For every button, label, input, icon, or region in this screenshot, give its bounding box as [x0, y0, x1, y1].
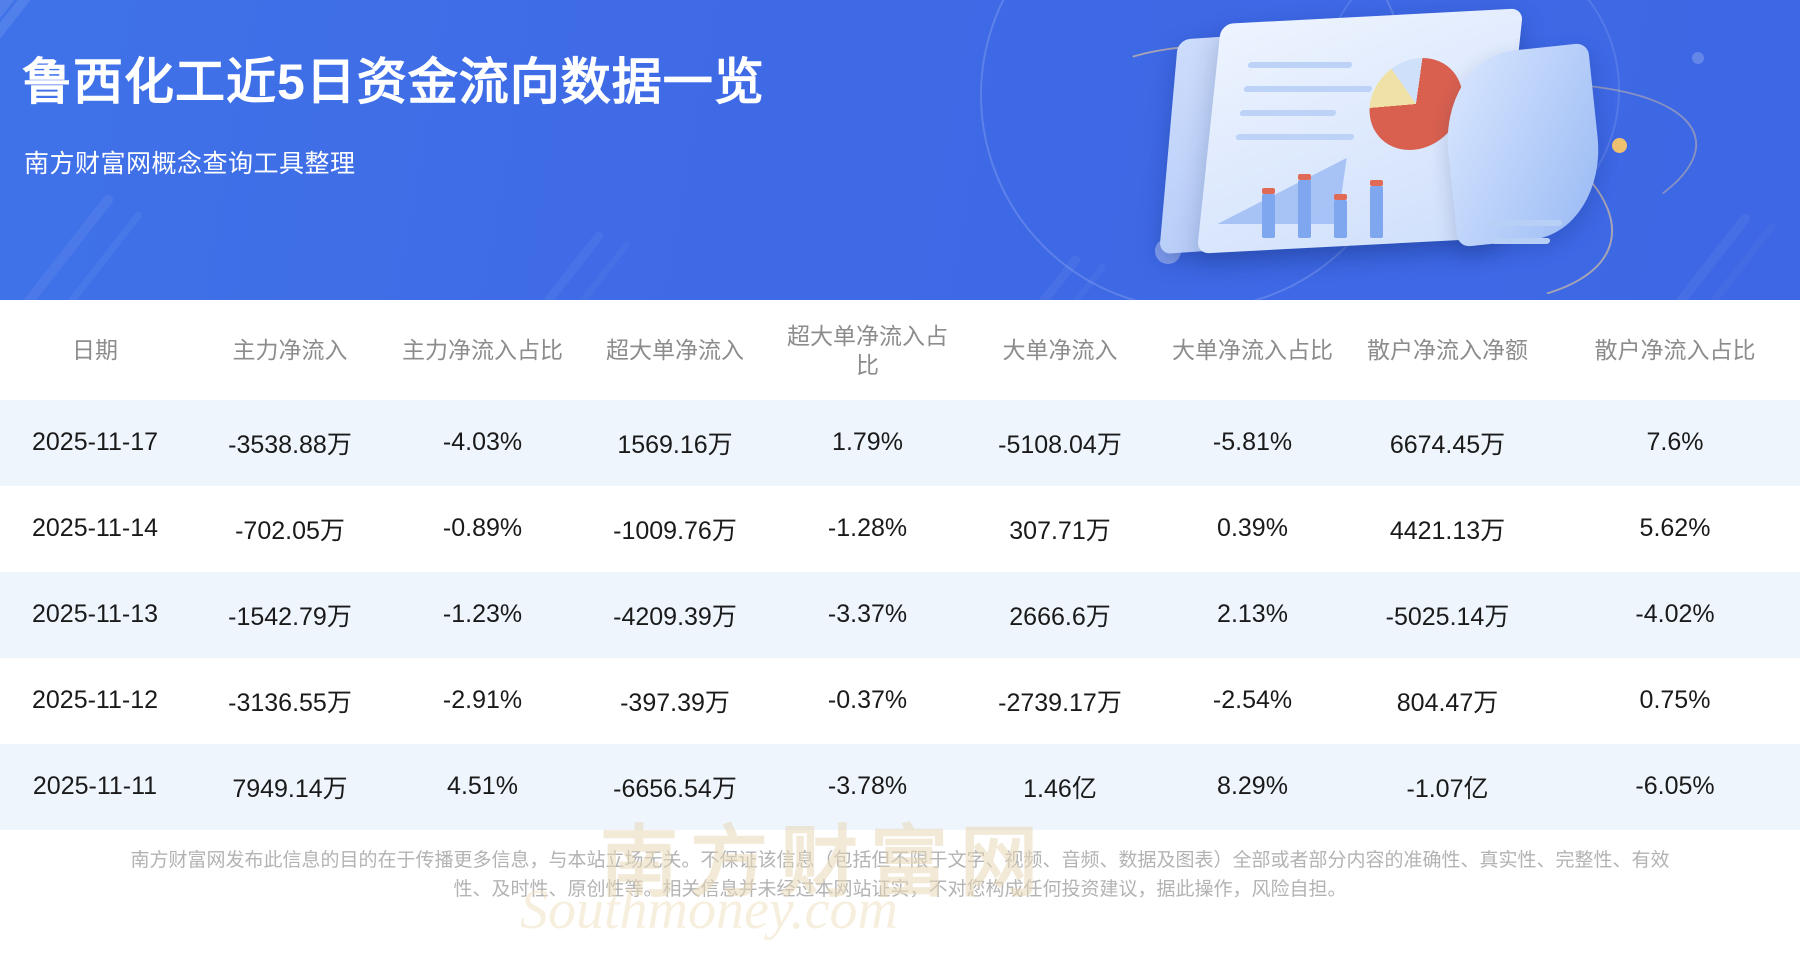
cell-main-net: -702.05万 [190, 486, 390, 572]
cell-main-net: 7949.14万 [190, 744, 390, 830]
cell-retail-pct: 0.75% [1550, 658, 1800, 744]
cell-super-net: -397.39万 [575, 658, 775, 744]
cell-large-net: 307.71万 [960, 486, 1160, 572]
table-row: 2025-11-11 7949.14万 4.51% -6656.54万 -3.7… [0, 744, 1800, 830]
cell-super-net: -6656.54万 [575, 744, 775, 830]
cell-main-net: -3136.55万 [190, 658, 390, 744]
cell-main-pct: -4.03% [390, 400, 575, 486]
cell-large-pct: 2.13% [1160, 572, 1345, 658]
cell-super-pct: -3.78% [775, 744, 960, 830]
cell-date: 2025-11-11 [0, 744, 190, 830]
header-retail-pct: 散户净流入占比 [1550, 300, 1800, 400]
table-row: 2025-11-14 -702.05万 -0.89% -1009.76万 -1.… [0, 486, 1800, 572]
table-row: 2025-11-13 -1542.79万 -1.23% -4209.39万 -3… [0, 572, 1800, 658]
cell-retail-net: 4421.13万 [1345, 486, 1550, 572]
cell-super-net: -4209.39万 [575, 572, 775, 658]
table-row: 2025-11-17 -3538.88万 -4.03% 1569.16万 1.7… [0, 400, 1800, 486]
cell-large-pct: -5.81% [1160, 400, 1345, 486]
cell-super-pct: -0.37% [775, 658, 960, 744]
disclaimer-line-2: 性、及时性、原创性等。相关信息并未经过本网站证实，不对您构成任何投资建议，据此操… [18, 875, 1782, 904]
cell-super-net: 1569.16万 [575, 400, 775, 486]
cell-main-pct: 4.51% [390, 744, 575, 830]
cell-super-pct: 1.79% [775, 400, 960, 486]
table-row: 2025-11-12 -3136.55万 -2.91% -397.39万 -0.… [0, 658, 1800, 744]
cell-large-pct: 8.29% [1160, 744, 1345, 830]
cell-retail-net: -1.07亿 [1345, 744, 1550, 830]
cell-large-net: 1.46亿 [960, 744, 1160, 830]
disclaimer: 南方财富网发布此信息的目的在于传播更多信息，与本站立场无关。不保证该信息（包括但… [0, 830, 1800, 915]
cell-date: 2025-11-14 [0, 486, 190, 572]
header-date: 日期 [0, 300, 190, 400]
header-super-pct: 超大单净流入占比 [775, 300, 960, 400]
cell-retail-net: -5025.14万 [1345, 572, 1550, 658]
cell-main-pct: -1.23% [390, 572, 575, 658]
fund-flow-table-wrapper: 日期 主力净流入 主力净流入占比 超大单净流入 超大单净流入占比 大单净流入 大… [0, 300, 1800, 830]
page-subtitle: 南方财富网概念查询工具整理 [24, 144, 356, 180]
cell-super-pct: -3.37% [775, 572, 960, 658]
cell-large-net: -5108.04万 [960, 400, 1160, 486]
cell-super-net: -1009.76万 [575, 486, 775, 572]
cell-large-net: 2666.6万 [960, 572, 1160, 658]
table-area: 南方财富网 Southmoney.com 日期 主力净流入 主力净流入占比 超大… [0, 300, 1800, 830]
cell-large-pct: 0.39% [1160, 486, 1345, 572]
disclaimer-line-1: 南方财富网发布此信息的目的在于传播更多信息，与本站立场无关。不保证该信息（包括但… [18, 846, 1782, 875]
cell-super-pct: -1.28% [775, 486, 960, 572]
header-retail-net: 散户净流入净额 [1345, 300, 1550, 400]
header-main-net: 主力净流入 [190, 300, 390, 400]
cell-retail-net: 804.47万 [1345, 658, 1550, 744]
fund-flow-table: 日期 主力净流入 主力净流入占比 超大单净流入 超大单净流入占比 大单净流入 大… [0, 300, 1800, 830]
cell-date: 2025-11-13 [0, 572, 190, 658]
cell-main-pct: -0.89% [390, 486, 575, 572]
header-super-net: 超大单净流入 [575, 300, 775, 400]
table-header-row: 日期 主力净流入 主力净流入占比 超大单净流入 超大单净流入占比 大单净流入 大… [0, 300, 1800, 400]
cell-large-net: -2739.17万 [960, 658, 1160, 744]
header-large-net: 大单净流入 [960, 300, 1160, 400]
cell-date: 2025-11-12 [0, 658, 190, 744]
cell-main-net: -3538.88万 [190, 400, 390, 486]
cell-large-pct: -2.54% [1160, 658, 1345, 744]
cell-main-pct: -2.91% [390, 658, 575, 744]
header-large-pct: 大单净流入占比 [1160, 300, 1345, 400]
cell-retail-net: 6674.45万 [1345, 400, 1550, 486]
cell-retail-pct: -4.02% [1550, 572, 1800, 658]
cell-main-net: -1542.79万 [190, 572, 390, 658]
page-banner: 鲁西化工近5日资金流向数据一览 南方财富网概念查询工具整理 [0, 0, 1800, 300]
header-main-pct: 主力净流入占比 [390, 300, 575, 400]
cell-retail-pct: -6.05% [1550, 744, 1800, 830]
cell-retail-pct: 5.62% [1550, 486, 1800, 572]
cell-retail-pct: 7.6% [1550, 400, 1800, 486]
report-illustration [1130, 10, 1650, 290]
page-title: 鲁西化工近5日资金流向数据一览 [22, 52, 765, 112]
cell-date: 2025-11-17 [0, 400, 190, 486]
